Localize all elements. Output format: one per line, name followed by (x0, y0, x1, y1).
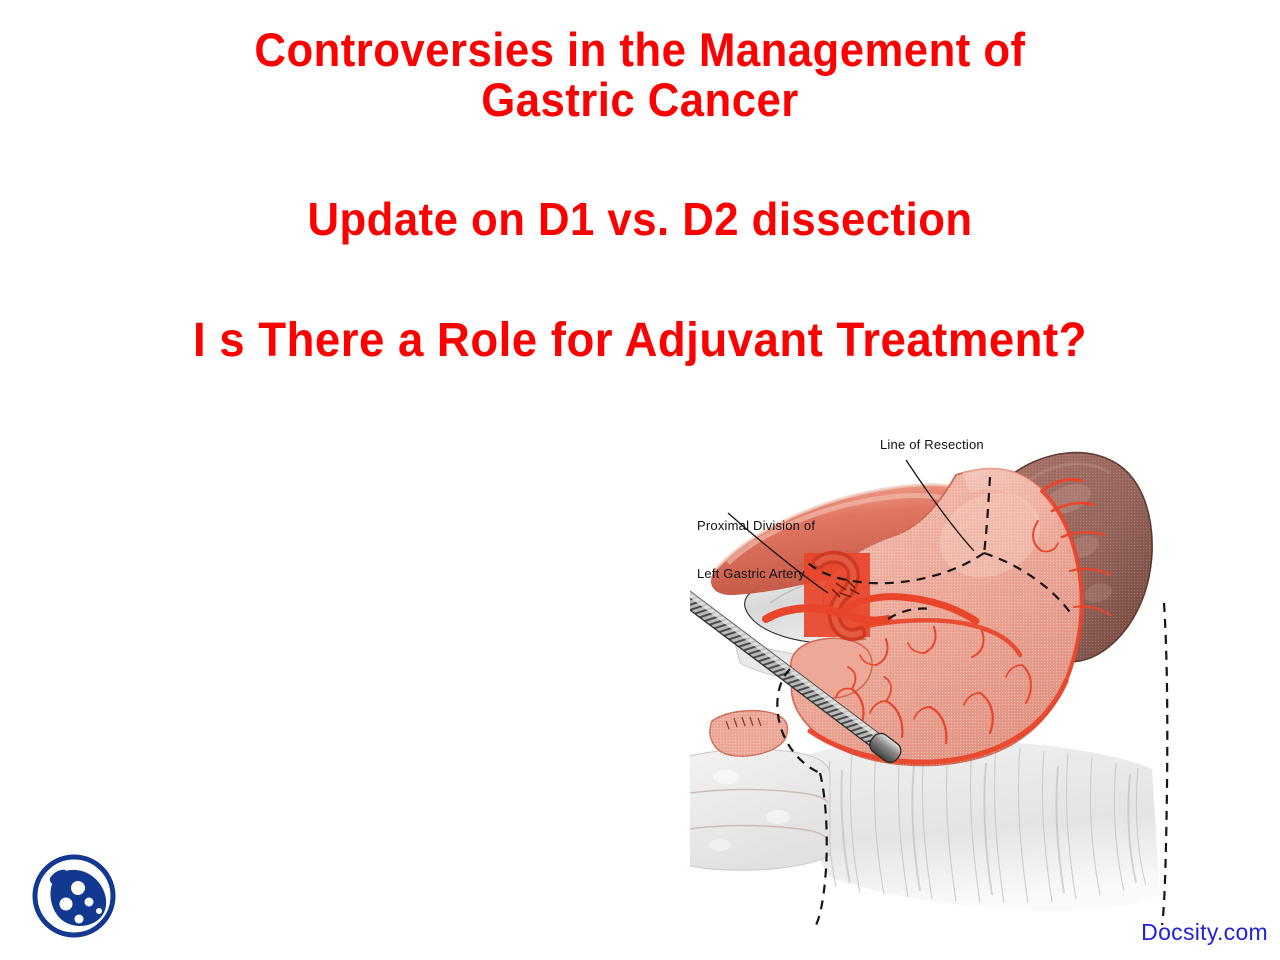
title-line-4: I s There a Role for Adjuvant Treatment? (32, 317, 1248, 366)
label-left-gastric-artery: Proximal Division of Left Gastric Artery (697, 485, 815, 615)
label-lga-line1: Proximal Division of (697, 518, 815, 534)
slide-canvas: Controversies in the Management of Gastr… (0, 0, 1280, 960)
title-line-1: Controversies in the Management of (45, 26, 1235, 74)
label-line-of-resection: Line of Resection (880, 437, 984, 453)
watermark-docsity: Docsity.com (1141, 919, 1268, 946)
page-title: Controversies in the Management of Gastr… (0, 26, 1280, 366)
transverse-colon (690, 749, 830, 870)
docsity-logo[interactable] (28, 852, 120, 940)
title-line-3: Update on D1 vs. D2 dissection (32, 196, 1248, 243)
greater-omentum (806, 740, 1160, 912)
docsity-logo-icon (28, 852, 120, 940)
duodenal-stump (710, 711, 787, 756)
label-lga-line2: Left Gastric Artery (697, 566, 815, 582)
title-line-2: Gastric Cancer (45, 76, 1235, 124)
